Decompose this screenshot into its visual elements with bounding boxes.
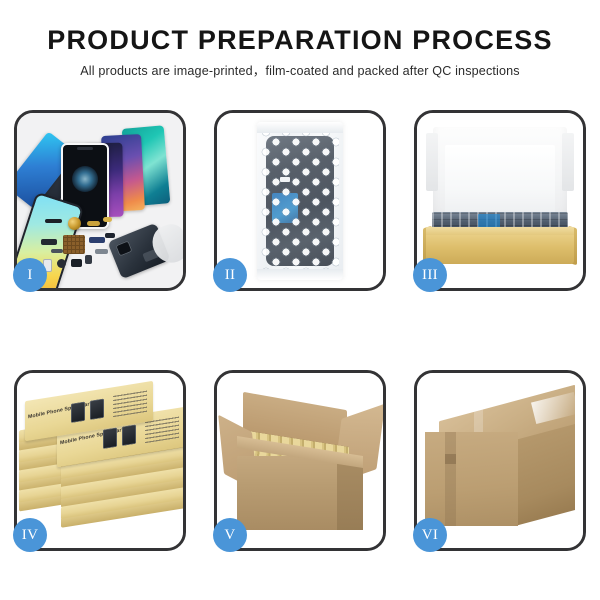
stacked-retail-boxes-artwork: Mobile Phone Spare Parts Mobile Phone Sp… — [17, 373, 183, 548]
process-step-1: I — [14, 110, 186, 291]
step-3-image — [417, 113, 583, 288]
process-step-2: II — [214, 110, 386, 291]
flex-cable-part — [45, 219, 62, 223]
infographic-page: PRODUCT PREPARATION PROCESS All products… — [0, 0, 600, 600]
mailer-lid — [433, 127, 567, 223]
step-1-image — [17, 113, 183, 288]
step-4-image: Mobile Phone Spare Parts Mobile Phone Sp… — [17, 373, 183, 548]
screw-strip-part — [51, 249, 63, 253]
box-barcode — [113, 390, 147, 417]
vibrator-part — [71, 259, 82, 267]
chip-grid-part — [63, 235, 85, 254]
phones-and-components-artwork — [17, 113, 183, 288]
carton-side — [337, 456, 363, 530]
module-part — [41, 239, 57, 245]
sealed-carton-artwork — [425, 403, 575, 526]
box-window-right — [122, 425, 136, 446]
process-step-3: III — [414, 110, 586, 291]
step-badge-3: III — [413, 258, 447, 292]
header: PRODUCT PREPARATION PROCESS All products… — [0, 0, 600, 78]
step-badge-6: VI — [413, 518, 447, 552]
step-badge-1: I — [13, 258, 47, 292]
box-window-right — [90, 399, 104, 420]
mailer-front-panel — [426, 234, 574, 264]
box-window-left — [103, 428, 117, 449]
gold-connector-part — [87, 221, 100, 226]
blue-flex-part — [89, 237, 105, 243]
step-badge-2: II — [213, 258, 247, 292]
speaker-part — [57, 259, 66, 268]
carton-front-face — [425, 432, 518, 526]
open-kraft-mailer-artwork — [426, 127, 574, 264]
page-title: PRODUCT PREPARATION PROCESS — [0, 27, 600, 54]
foam-lining — [445, 145, 555, 219]
open-carton-artwork — [229, 399, 371, 530]
bag-seal-bottom — [257, 269, 343, 280]
process-step-5: V — [214, 370, 386, 551]
bubble-texture — [261, 127, 339, 275]
process-step-grid: I II — [14, 110, 586, 551]
process-step-6: VI — [414, 370, 586, 551]
small-ic-part — [105, 233, 115, 238]
bubble-wrapped-item-artwork — [257, 122, 343, 280]
bag-seal-top — [257, 122, 343, 133]
phone-notch — [77, 147, 93, 150]
step-badge-4: IV — [13, 518, 47, 552]
carton-tape-patch — [445, 454, 456, 464]
carton-body — [237, 456, 363, 530]
antenna-part — [95, 249, 108, 254]
step-2-image — [217, 113, 383, 288]
carton-right-face — [515, 424, 575, 526]
bracket-part — [85, 255, 92, 264]
step-5-image — [217, 373, 383, 548]
box-window-left — [71, 402, 85, 423]
step-6-image — [417, 373, 583, 548]
carton-tape-seam — [445, 432, 456, 526]
box-side — [61, 499, 183, 528]
speaker-coil-part — [68, 217, 81, 230]
page-subtitle: All products are image-printed，film-coat… — [0, 65, 600, 78]
process-step-4: Mobile Phone Spare Parts Mobile Phone Sp… — [14, 370, 186, 551]
step-badge-5: V — [213, 518, 247, 552]
gold-clip-part — [103, 217, 112, 222]
